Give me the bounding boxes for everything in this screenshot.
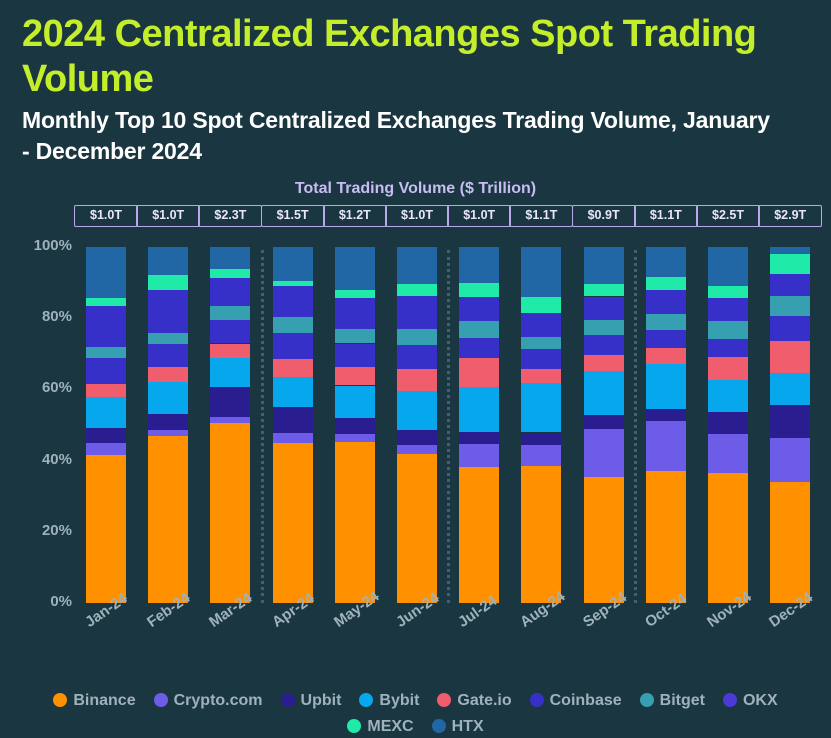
bar-segment-coinbase[interactable] xyxy=(273,333,313,359)
stacked-bar-chart: 0%20%40%60%80%100%$1.0TJan-24$1.0TFeb-24… xyxy=(0,0,831,738)
bar-segment-gate-io[interactable] xyxy=(210,344,250,359)
bar-segment-htx[interactable] xyxy=(646,247,686,277)
volume-annotation: $1.0T xyxy=(136,205,200,227)
legend-item-coinbase[interactable]: Coinbase xyxy=(530,688,622,714)
quarter-separator xyxy=(261,250,264,603)
bar-segment-coinbase[interactable] xyxy=(397,345,437,369)
bar-segment-gate-io[interactable] xyxy=(770,341,810,373)
bar-segment-okx[interactable] xyxy=(708,298,748,321)
bar-segment-bybit[interactable] xyxy=(646,364,686,409)
bar-segment-upbit[interactable] xyxy=(459,432,499,444)
bar-segment-htx[interactable] xyxy=(86,247,126,298)
bar-segment-binance[interactable] xyxy=(86,455,126,603)
bar-segment-htx[interactable] xyxy=(584,247,624,284)
bar-column[interactable] xyxy=(584,247,624,603)
bar-segment-htx[interactable] xyxy=(459,247,499,283)
legend-label: Bybit xyxy=(379,688,419,714)
volume-annotation: $1.1T xyxy=(509,205,573,227)
volume-annotation: $1.0T xyxy=(74,205,138,227)
bar-segment-bybit[interactable] xyxy=(708,380,748,412)
bar-segment-gate-io[interactable] xyxy=(646,348,686,364)
bar-segment-gate-io[interactable] xyxy=(584,355,624,371)
bar-column[interactable] xyxy=(459,247,499,603)
bar-segment-bybit[interactable] xyxy=(86,397,126,428)
bar-segment-mexc[interactable] xyxy=(210,269,250,278)
bar-segment-gate-io[interactable] xyxy=(397,369,437,391)
bar-segment-binance[interactable] xyxy=(397,454,437,603)
y-axis-tick-label: 40% xyxy=(0,451,72,468)
volume-annotation: $1.5T xyxy=(261,205,325,227)
bar-column[interactable] xyxy=(273,247,313,603)
bar-segment-mexc[interactable] xyxy=(86,298,126,307)
legend-swatch-icon xyxy=(154,693,168,707)
legend-swatch-icon xyxy=(723,693,737,707)
legend-swatch-icon xyxy=(640,693,654,707)
bar-segment-bitget[interactable] xyxy=(335,329,375,344)
bar-segment-upbit[interactable] xyxy=(397,430,437,445)
y-axis-tick-label: 0% xyxy=(0,593,72,610)
bar-segment-htx[interactable] xyxy=(148,247,188,275)
bar-segment-crypto-com[interactable] xyxy=(521,445,561,466)
bar-segment-crypto-com[interactable] xyxy=(86,443,126,455)
bar-segment-gate-io[interactable] xyxy=(521,369,561,383)
bar-segment-bybit[interactable] xyxy=(521,383,561,433)
bar-segment-okx[interactable] xyxy=(148,290,188,333)
legend-label: Gate.io xyxy=(457,688,511,714)
bar-segment-okx[interactable] xyxy=(335,298,375,329)
bar-segment-okx[interactable] xyxy=(397,296,437,329)
bar-segment-htx[interactable] xyxy=(397,247,437,284)
bar-segment-coinbase[interactable] xyxy=(210,320,250,343)
bar-segment-okx[interactable] xyxy=(521,313,561,337)
bar-segment-bybit[interactable] xyxy=(459,387,499,432)
bar-segment-mexc[interactable] xyxy=(148,275,188,290)
bar-segment-mexc[interactable] xyxy=(708,286,748,298)
bar-segment-htx[interactable] xyxy=(521,247,561,297)
legend-label: Crypto.com xyxy=(174,688,263,714)
legend-row: BinanceCrypto.comUpbitBybitGate.ioCoinba… xyxy=(0,688,831,714)
bar-segment-binance[interactable] xyxy=(646,471,686,603)
bar-segment-mexc[interactable] xyxy=(397,284,437,296)
legend-item-upbit[interactable]: Upbit xyxy=(281,688,342,714)
legend-item-htx[interactable]: HTX xyxy=(432,714,484,738)
volume-annotation: $1.2T xyxy=(323,205,387,227)
bar-segment-mexc[interactable] xyxy=(521,297,561,313)
bar-segment-crypto-com[interactable] xyxy=(584,429,624,477)
bar-segment-okx[interactable] xyxy=(86,306,126,347)
bar-segment-upbit[interactable] xyxy=(210,387,250,417)
volume-annotation: $2.5T xyxy=(696,205,760,227)
bar-segment-bitget[interactable] xyxy=(273,317,313,333)
bar-column[interactable] xyxy=(86,247,126,603)
legend-swatch-icon xyxy=(347,719,361,733)
legend-label: Bitget xyxy=(660,688,705,714)
bar-column[interactable] xyxy=(646,247,686,603)
bar-segment-mexc[interactable] xyxy=(459,283,499,297)
volume-annotation: $2.9T xyxy=(758,205,822,227)
legend-label: Coinbase xyxy=(550,688,622,714)
bar-segment-coinbase[interactable] xyxy=(646,330,686,348)
bar-segment-bybit[interactable] xyxy=(397,391,437,430)
chart-page: 2024 Centralized Exchanges Spot Trading … xyxy=(0,0,831,738)
bar-segment-crypto-com[interactable] xyxy=(646,421,686,471)
legend-swatch-icon xyxy=(281,693,295,707)
bar-segment-coinbase[interactable] xyxy=(86,358,126,384)
bar-segment-gate-io[interactable] xyxy=(148,367,188,382)
bar-segment-okx[interactable] xyxy=(459,297,499,321)
bar-segment-htx[interactable] xyxy=(770,247,810,254)
legend-swatch-icon xyxy=(53,693,67,707)
bar-segment-bitget[interactable] xyxy=(708,321,748,338)
bar-segment-coinbase[interactable] xyxy=(148,344,188,367)
bar-segment-htx[interactable] xyxy=(210,247,250,269)
bar-segment-binance[interactable] xyxy=(521,466,561,603)
legend-label: Binance xyxy=(73,688,135,714)
bar-segment-htx[interactable] xyxy=(335,247,375,290)
legend-swatch-icon xyxy=(530,693,544,707)
legend-swatch-icon xyxy=(437,693,451,707)
bar-segment-mexc[interactable] xyxy=(273,281,313,286)
legend-item-mexc[interactable]: MEXC xyxy=(347,714,413,738)
bar-segment-coinbase[interactable] xyxy=(335,344,375,367)
bar-segment-gate-io[interactable] xyxy=(86,384,126,397)
bar-segment-upbit[interactable] xyxy=(273,407,313,433)
bar-segment-okx[interactable] xyxy=(584,297,624,320)
bar-segment-crypto-com[interactable] xyxy=(210,417,250,423)
chart-legend: BinanceCrypto.comUpbitBybitGate.ioCoinba… xyxy=(0,688,831,738)
bar-column[interactable] xyxy=(770,247,810,603)
bar-segment-crypto-com[interactable] xyxy=(397,445,437,454)
bar-segment-binance[interactable] xyxy=(770,482,810,603)
bar-segment-upbit[interactable] xyxy=(708,412,748,434)
bar-segment-gate-io[interactable] xyxy=(335,367,375,386)
bar-segment-crypto-com[interactable] xyxy=(459,444,499,467)
y-axis-tick-label: 20% xyxy=(0,522,72,539)
volume-annotation: $2.3T xyxy=(198,205,262,227)
bar-segment-mexc[interactable] xyxy=(584,284,624,296)
legend-label: MEXC xyxy=(367,714,413,738)
volume-annotation: $1.0T xyxy=(385,205,449,227)
legend-swatch-icon xyxy=(432,719,446,733)
legend-item-gate-io[interactable]: Gate.io xyxy=(437,688,511,714)
bar-segment-binance[interactable] xyxy=(148,436,188,603)
bar-segment-bybit[interactable] xyxy=(584,371,624,415)
bar-segment-binance[interactable] xyxy=(584,477,624,603)
bar-segment-crypto-com[interactable] xyxy=(273,433,313,443)
bar-segment-bitget[interactable] xyxy=(148,333,188,344)
bar-segment-binance[interactable] xyxy=(708,473,748,603)
bar-segment-upbit[interactable] xyxy=(770,405,810,438)
bar-segment-binance[interactable] xyxy=(459,467,499,603)
bar-segment-bitget[interactable] xyxy=(86,347,126,358)
legend-item-bybit[interactable]: Bybit xyxy=(359,688,419,714)
bar-segment-upbit[interactable] xyxy=(335,418,375,434)
bar-segment-coinbase[interactable] xyxy=(708,339,748,357)
quarter-separator xyxy=(634,250,637,603)
bar-segment-gate-io[interactable] xyxy=(459,358,499,387)
bar-segment-gate-io[interactable] xyxy=(273,359,313,377)
bar-segment-bitget[interactable] xyxy=(459,321,499,338)
bar-segment-okx[interactable] xyxy=(273,286,313,317)
bar-segment-upbit[interactable] xyxy=(86,428,126,443)
bar-segment-bybit[interactable] xyxy=(148,382,188,414)
bar-segment-gate-io[interactable] xyxy=(708,357,748,380)
bar-segment-okx[interactable] xyxy=(770,274,810,296)
bar-segment-upbit[interactable] xyxy=(521,433,561,445)
bar-segment-binance[interactable] xyxy=(335,442,375,603)
bar-segment-bybit[interactable] xyxy=(210,358,250,387)
bar-segment-crypto-com[interactable] xyxy=(770,438,810,482)
bar-segment-bitget[interactable] xyxy=(646,314,686,330)
bar-segment-bitget[interactable] xyxy=(584,320,624,335)
bar-segment-crypto-com[interactable] xyxy=(148,430,188,436)
bar-segment-coinbase[interactable] xyxy=(584,335,624,355)
bar-segment-binance[interactable] xyxy=(273,443,313,603)
bar-segment-bybit[interactable] xyxy=(770,373,810,405)
bar-segment-mexc[interactable] xyxy=(646,277,686,291)
bar-segment-okx[interactable] xyxy=(210,278,250,307)
y-axis-tick-label: 60% xyxy=(0,379,72,396)
legend-label: HTX xyxy=(452,714,484,738)
bar-segment-coinbase[interactable] xyxy=(770,316,810,341)
bar-segment-upbit[interactable] xyxy=(646,409,686,421)
bar-column[interactable] xyxy=(708,247,748,603)
bar-segment-bitget[interactable] xyxy=(770,296,810,316)
bar-segment-mexc[interactable] xyxy=(770,254,810,274)
quarter-separator xyxy=(447,250,450,603)
y-axis-tick-label: 100% xyxy=(0,237,72,254)
volume-annotation: $1.1T xyxy=(634,205,698,227)
bar-segment-mexc[interactable] xyxy=(335,290,375,297)
legend-item-okx[interactable]: OKX xyxy=(723,688,778,714)
bar-segment-bybit[interactable] xyxy=(273,377,313,407)
bar-column[interactable] xyxy=(521,247,561,603)
bar-segment-crypto-com[interactable] xyxy=(335,434,375,443)
bar-segment-binance[interactable] xyxy=(210,423,250,603)
bar-column[interactable] xyxy=(397,247,437,603)
volume-annotation: $1.0T xyxy=(447,205,511,227)
bar-segment-bitget[interactable] xyxy=(210,306,250,320)
bar-segment-upbit[interactable] xyxy=(584,415,624,429)
legend-label: Upbit xyxy=(301,688,342,714)
bar-segment-crypto-com[interactable] xyxy=(708,434,748,473)
bar-column[interactable] xyxy=(335,247,375,603)
legend-swatch-icon xyxy=(359,693,373,707)
y-axis-tick-label: 80% xyxy=(0,308,72,325)
legend-item-binance[interactable]: Binance xyxy=(53,688,135,714)
bar-segment-upbit[interactable] xyxy=(148,414,188,430)
legend-item-crypto-com[interactable]: Crypto.com xyxy=(154,688,263,714)
bar-segment-coinbase[interactable] xyxy=(459,338,499,358)
bar-segment-htx[interactable] xyxy=(708,247,748,286)
legend-item-bitget[interactable]: Bitget xyxy=(640,688,705,714)
bar-segment-bybit[interactable] xyxy=(335,386,375,418)
bar-column[interactable] xyxy=(210,247,250,603)
legend-row: MEXCHTX xyxy=(0,714,831,738)
bar-segment-bitget[interactable] xyxy=(397,329,437,345)
bar-segment-okx[interactable] xyxy=(646,290,686,313)
bar-segment-coinbase[interactable] xyxy=(521,349,561,369)
bar-column[interactable] xyxy=(148,247,188,603)
volume-annotation: $0.9T xyxy=(572,205,636,227)
legend-label: OKX xyxy=(743,688,778,714)
bar-segment-htx[interactable] xyxy=(273,247,313,281)
bar-segment-bitget[interactable] xyxy=(521,337,561,349)
